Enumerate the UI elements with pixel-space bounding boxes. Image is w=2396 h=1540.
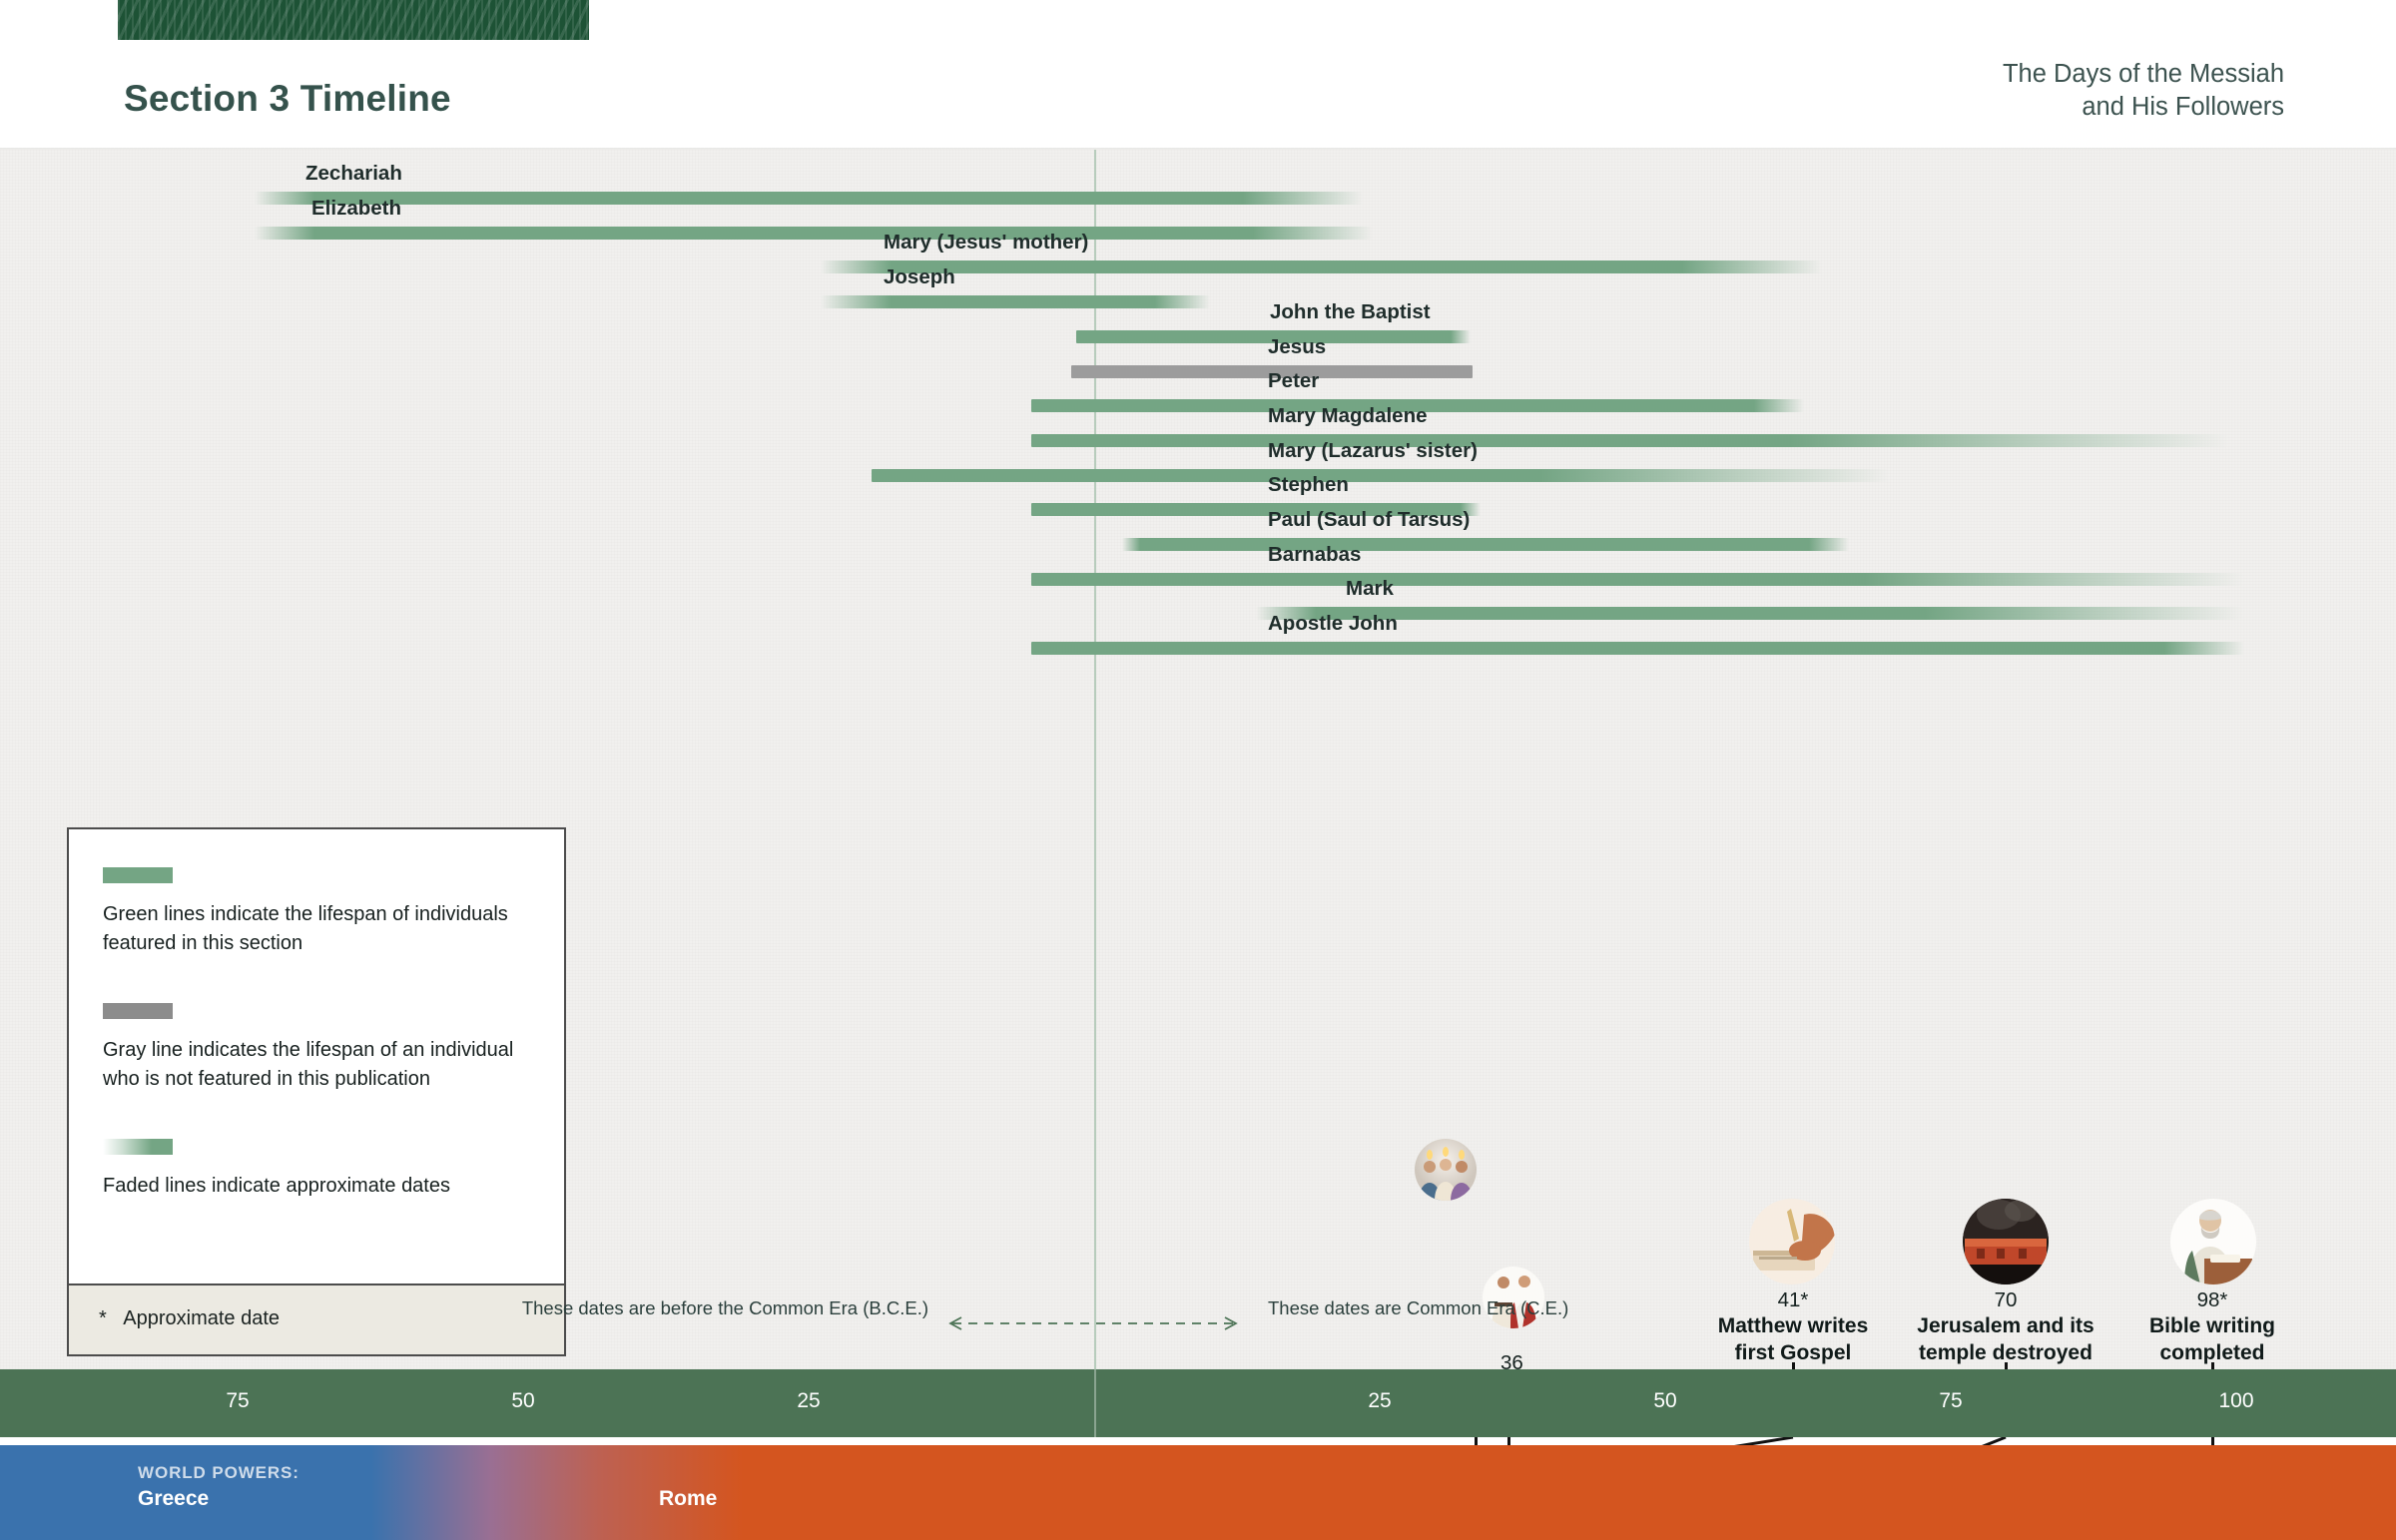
- era-note-ce: These dates are Common Era (C.E.): [1268, 1295, 1568, 1320]
- axis-tick-label: 75: [226, 1389, 249, 1413]
- publication-title-line1: The Days of the Messiah: [2003, 58, 2284, 91]
- axis-tick-label: 75: [1939, 1389, 1962, 1413]
- legend-footnote: * Approximate date: [69, 1283, 564, 1354]
- era-note-bce: These dates are before the Common Era (B…: [522, 1295, 928, 1320]
- page-header: Section 3 Timeline The Days of the Messi…: [0, 0, 2396, 148]
- publication-logo-banner: [118, 0, 589, 40]
- axis-tick-label: 25: [1368, 1389, 1391, 1413]
- legend-panel: Green lines indicate the lifespan of ind…: [67, 827, 566, 1356]
- event-label-line1: Bible writing: [2149, 1312, 2275, 1339]
- legend-body: Green lines indicate the lifespan of ind…: [69, 829, 564, 1283]
- legend-footnote-text: Approximate date: [123, 1307, 280, 1329]
- axis-zero-tick: [1094, 1369, 1096, 1437]
- world-power-greece: Greece: [138, 1487, 209, 1511]
- publication-title: The Days of the Messiah and His Follower…: [2003, 58, 2284, 124]
- event-label: Bible writingcompleted: [2149, 1312, 2275, 1366]
- elderly-scribe-writing-icon[interactable]: [2170, 1199, 2256, 1284]
- axis-tick-label: 50: [511, 1389, 534, 1413]
- timeline-canvas: ZechariahElizabethMary (Jesus' mother)Jo…: [0, 150, 2396, 1369]
- legend-gray-text: Gray line indicates the lifespan of an i…: [103, 1036, 530, 1094]
- asterisk-icon: *: [99, 1307, 107, 1329]
- timeline-page: Section 3 Timeline The Days of the Messi…: [0, 0, 2396, 1540]
- world-powers-caption: WORLD POWERS:: [138, 1463, 299, 1483]
- legend-gray-swatch-icon: [103, 1003, 173, 1019]
- legend-green-swatch-icon: [103, 867, 173, 883]
- legend-faded-swatch-icon: [103, 1139, 173, 1155]
- axis-tick-label: 25: [797, 1389, 820, 1413]
- year-axis: 755025255075100: [0, 1369, 2396, 1437]
- axis-tick-label: 50: [1653, 1389, 1676, 1413]
- world-power-rome: Rome: [659, 1487, 717, 1511]
- axis-tick-label: 100: [2218, 1389, 2253, 1413]
- legend-faded-text: Faded lines indicate approximate dates: [103, 1172, 530, 1201]
- legend-green-text: Green lines indicate the lifespan of ind…: [103, 900, 530, 958]
- event-year: 98*: [2197, 1288, 2228, 1312]
- page-title: Section 3 Timeline: [124, 78, 451, 120]
- era-direction-arrow-icon: [938, 1315, 1248, 1331]
- publication-title-line2: and His Followers: [2003, 91, 2284, 124]
- world-powers-bar: WORLD POWERS: Greece Rome: [0, 1445, 2396, 1540]
